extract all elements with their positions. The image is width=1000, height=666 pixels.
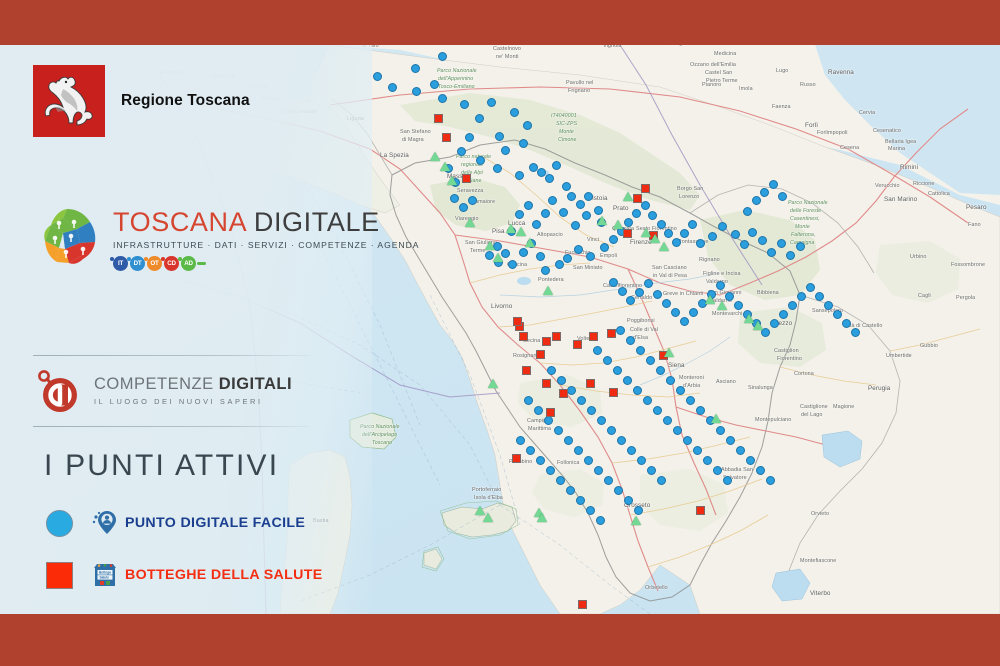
map-marker-punto-digitale-facile[interactable] [723,476,732,485]
map-marker-centro-digitalmentis[interactable] [537,513,547,522]
map-marker-centro-digitalmentis[interactable] [430,152,440,161]
map-label: La Spezia [380,152,409,159]
map-marker-punto-digitale-facile[interactable] [574,446,583,455]
map-marker-punto-digitale-facile[interactable] [571,221,580,230]
map-marker-punto-digitale-facile[interactable] [641,201,650,210]
map-label: Viterbo [810,590,831,597]
map-label: Pisa [492,228,505,235]
map-marker-centro-digitalmentis[interactable] [597,216,607,225]
map-label: dell'Appennino [438,76,473,82]
map-label: Orbetello [645,585,668,591]
map-marker-punto-digitale-facile[interactable] [696,406,705,415]
td-badge-ot[interactable]: OT [147,256,162,271]
map-marker-bottega-salute[interactable] [578,600,587,609]
map-marker-punto-digitale-facile[interactable] [758,236,767,245]
map-marker-punto-digitale-facile[interactable] [797,292,806,301]
map-marker-punto-digitale-facile[interactable] [584,456,593,465]
map-label: Seravezza [457,188,483,194]
map-label: Pergola [956,295,975,301]
map-marker-punto-digitale-facile[interactable] [676,386,685,395]
map-marker-centro-digitalmentis[interactable] [516,227,526,236]
map-label: Casentinesi, [790,216,820,222]
map-label: San Stefano [400,129,431,135]
map-marker-punto-digitale-facile[interactable] [673,426,682,435]
map-marker-punto-digitale-facile[interactable] [636,346,645,355]
toscana-digitale-title: TOSCANA DIGITALE [113,209,419,236]
map-marker-punto-digitale-facile[interactable] [541,209,550,218]
map-marker-centro-digitalmentis[interactable] [440,162,450,171]
map-marker-punto-digitale-facile[interactable] [526,446,535,455]
map-marker-punto-digitale-facile[interactable] [545,174,554,183]
map-label: Forlì [805,122,818,129]
map-marker-punto-digitale-facile[interactable] [824,301,833,310]
map-marker-punto-digitale-facile[interactable] [786,251,795,260]
map-marker-punto-digitale-facile[interactable] [725,292,734,301]
map-marker-punto-digitale-facile[interactable] [468,196,477,205]
map-label: Cortona [794,371,814,377]
map-marker-bottega-salute[interactable] [609,388,618,397]
map-marker-punto-digitale-facile[interactable] [510,108,519,117]
map-marker-punto-digitale-facile[interactable] [770,319,779,328]
map-marker-punto-digitale-facile[interactable] [501,146,510,155]
map-marker-bottega-salute[interactable] [536,350,545,359]
map-marker-punto-digitale-facile[interactable] [523,121,532,130]
map-marker-punto-digitale-facile[interactable] [779,310,788,319]
map-marker-punto-digitale-facile[interactable] [576,496,585,505]
map-label: Bibbiena [757,290,779,296]
map-marker-punto-digitale-facile[interactable] [519,248,528,257]
competenze-digitali-title: COMPETENZE DIGITALI [94,376,292,393]
map-label: Forlimpopoli [817,130,848,136]
map-pin-person-icon [85,509,125,537]
map-marker-bottega-salute[interactable] [586,379,595,388]
legend-row-0[interactable]: PUNTO DIGITALE FACILE [33,497,353,549]
map-marker-punto-digitale-facile[interactable] [788,301,797,310]
map-marker-punto-digitale-facile[interactable] [752,196,761,205]
map-marker-bottega-salute[interactable] [542,379,551,388]
map-marker-centro-digitalmentis[interactable] [711,414,721,423]
map-marker-punto-digitale-facile[interactable] [457,147,466,156]
map-marker-punto-digitale-facile[interactable] [760,188,769,197]
map-marker-bottega-salute[interactable] [512,454,521,463]
map-marker-punto-digitale-facile[interactable] [604,476,613,485]
map-marker-bottega-salute[interactable] [641,184,650,193]
map-marker-punto-digitale-facile[interactable] [718,222,727,231]
map-marker-punto-digitale-facile[interactable] [683,436,692,445]
map-marker-punto-digitale-facile[interactable] [748,228,757,237]
map-marker-punto-digitale-facile[interactable] [587,406,596,415]
map-marker-punto-digitale-facile[interactable] [577,396,586,405]
map-label: Borgo San [677,186,703,192]
map-marker-punto-digitale-facile[interactable] [806,283,815,292]
map-label: Vignola [603,45,622,49]
map-marker-punto-digitale-facile[interactable] [614,486,623,495]
map-marker-punto-digitale-facile[interactable] [632,209,641,218]
map-marker-punto-digitale-facile[interactable] [544,416,553,425]
map-marker-punto-digitale-facile[interactable] [635,288,644,297]
map-label: Abbadia San [721,467,753,473]
td-title-part1: TOSCANA [113,207,246,237]
map-label: Castiglione [800,404,828,410]
map-marker-punto-digitale-facile[interactable] [438,52,447,61]
map-marker-punto-digitale-facile[interactable] [567,192,576,201]
map-marker-punto-digitale-facile[interactable] [534,406,543,415]
map-label: Gubbio [920,343,938,349]
map-marker-punto-digitale-facile[interactable] [586,252,595,261]
map-marker-punto-digitale-facile[interactable] [713,466,722,475]
map-label: Marittima [528,426,551,432]
map-marker-centro-digitalmentis[interactable] [659,242,669,251]
map-marker-punto-digitale-facile[interactable] [548,196,557,205]
legend-marker-red-square [33,562,85,589]
map-label: Liguria [347,116,364,122]
map-marker-punto-digitale-facile[interactable] [766,476,775,485]
bottom-band [0,614,1000,666]
map-marker-centro-digitalmentis[interactable] [753,321,763,330]
map-marker-bottega-salute[interactable] [559,389,568,398]
map-marker-punto-digitale-facile[interactable] [680,229,689,238]
map-marker-punto-digitale-facile[interactable] [672,238,681,247]
map-marker-punto-digitale-facile[interactable] [693,446,702,455]
map-marker-punto-digitale-facile[interactable] [594,206,603,215]
map-marker-punto-digitale-facile[interactable] [564,436,573,445]
map-label: San Miniato [573,265,603,271]
map-marker-punto-digitale-facile[interactable] [734,301,743,310]
map-marker-punto-digitale-facile[interactable] [626,296,635,305]
map-label: Lorenzo [679,194,699,200]
map-label: Asciano [716,379,736,385]
map-marker-punto-digitale-facile[interactable] [476,156,485,165]
map-marker-bottega-salute[interactable] [623,229,632,238]
map-marker-punto-digitale-facile[interactable] [644,279,653,288]
map-marker-bottega-salute[interactable] [589,332,598,341]
map-marker-punto-digitale-facile[interactable] [515,171,524,180]
region-title: Regione Toscana [121,92,250,110]
legend-title: I PUNTI ATTIVI [44,449,279,483]
toscana-digitale-sphere-icon [33,205,101,273]
map-label: Chiavari [262,96,283,102]
map-label: Sestri Levante [281,109,317,115]
map-marker-bottega-salute[interactable] [462,174,471,183]
map-marker-punto-digitale-facile[interactable] [373,72,382,81]
map-marker-centro-digitalmentis[interactable] [717,301,727,310]
toscana-digitale-badges: ITDTOTCDAD [113,256,419,271]
map-label: Firenze [630,239,652,246]
map-marker-punto-digitale-facile[interactable] [609,235,618,244]
td-badge-it[interactable]: IT [113,256,128,271]
map-label: Follonica [557,460,579,466]
map-marker-punto-digitale-facile[interactable] [716,281,725,290]
map-label: Marina [888,146,905,152]
map-marker-punto-digitale-facile[interactable] [547,366,556,375]
map-marker-centro-digitalmentis[interactable] [447,176,457,185]
toscana-digitale-subtitle: INFRASTRUTTURE · DATI · SERVIZI · COMPET… [113,240,419,250]
map-marker-punto-digitale-facile[interactable] [465,133,474,142]
map-label: Parco Nazionale [437,68,477,74]
map-marker-punto-digitale-facile[interactable] [450,194,459,203]
map-marker-punto-digitale-facile[interactable] [778,192,787,201]
map-marker-punto-digitale-facile[interactable] [624,218,633,227]
toscana-digitale-logo-block: TOSCANA DIGITALE INFRASTRUTTURE · DATI ·… [33,205,419,273]
map-marker-punto-digitale-facile[interactable] [487,98,496,107]
map-marker-punto-digitale-facile[interactable] [769,180,778,189]
competenze-digitali-subtitle: IL LUOGO DEI NUOVI SAPERI [94,397,292,406]
map-label: Isola d'Elba [474,495,503,501]
map-marker-punto-digitale-facile[interactable] [574,245,583,254]
divider-bottom [33,426,310,427]
map-label: Montepulciano [755,417,791,423]
map-label: Urbino [910,254,926,260]
map-label: d'Arbia [683,383,700,389]
map-marker-punto-digitale-facile[interactable] [647,466,656,475]
map-marker-punto-digitale-facile[interactable] [597,416,606,425]
map-marker-punto-digitale-facile[interactable] [618,287,627,296]
map-marker-punto-digitale-facile[interactable] [746,456,755,465]
map-marker-punto-digitale-facile[interactable] [624,496,633,505]
map-marker-punto-digitale-facile[interactable] [626,336,635,345]
map-label: IT4040001 [551,113,577,119]
map-marker-punto-digitale-facile[interactable] [703,456,712,465]
map-marker-punto-digitale-facile[interactable] [529,163,538,172]
map-label: Lugo [776,68,788,74]
map-marker-punto-digitale-facile[interactable] [596,516,605,525]
map-label: Ravenna [828,69,854,76]
map-marker-punto-digitale-facile[interactable] [475,114,484,123]
map-marker-punto-digitale-facile[interactable] [743,207,752,216]
map-marker-punto-digitale-facile[interactable] [582,211,591,220]
map-label: Figline e Incisa [703,271,741,277]
map-marker-centro-digitalmentis[interactable] [483,513,493,522]
map-marker-punto-digitale-facile[interactable] [664,229,673,238]
map-marker-punto-digitale-facile[interactable] [842,319,851,328]
map-marker-punto-digitale-facile[interactable] [696,239,705,248]
map-marker-punto-digitale-facile[interactable] [680,317,689,326]
map-label: Cervia [859,110,875,116]
map-marker-punto-digitale-facile[interactable] [708,232,717,241]
map-marker-punto-digitale-facile[interactable] [411,64,420,73]
map-marker-punto-digitale-facile[interactable] [657,220,666,229]
map-label: d'Elsa [633,335,648,341]
map-marker-centro-digitalmentis[interactable] [543,286,553,295]
map-marker-centro-digitalmentis[interactable] [664,348,674,357]
map-label: Altopascio [537,232,563,238]
map-marker-centro-digitalmentis[interactable] [485,241,495,250]
map-label: Imola [739,86,753,92]
td-badge-dt[interactable]: DT [130,256,145,271]
map-label: Bologna [668,45,688,47]
map-marker-centro-digitalmentis[interactable] [493,253,503,262]
legend-label-0: PUNTO DIGITALE FACILE [125,515,305,531]
map-marker-punto-digitale-facile[interactable] [412,87,421,96]
map-marker-punto-digitale-facile[interactable] [554,426,563,435]
map-marker-bottega-salute[interactable] [442,133,451,142]
map-marker-centro-digitalmentis[interactable] [705,295,715,304]
map-marker-punto-digitale-facile[interactable] [777,239,786,248]
map-label: Colle di Val [630,327,658,333]
td-badge-cd[interactable]: CD [164,256,179,271]
map-marker-bottega-salute[interactable] [434,114,443,123]
map-marker-punto-digitale-facile[interactable] [663,416,672,425]
map-marker-punto-digitale-facile[interactable] [731,230,740,239]
map-label: Fano [968,222,981,228]
map-marker-punto-digitale-facile[interactable] [388,83,397,92]
map-marker-punto-digitale-facile[interactable] [519,139,528,148]
map-marker-punto-digitale-facile[interactable] [576,200,585,209]
map-label: Riccione [913,181,934,187]
map-marker-punto-digitale-facile[interactable] [767,248,776,257]
map-marker-bottega-salute[interactable] [633,194,642,203]
map-label: Fiorentino [777,356,802,362]
map-label: Parco Nazionale [788,200,828,206]
map-marker-punto-digitale-facile[interactable] [833,310,842,319]
map-marker-punto-digitale-facile[interactable] [656,366,665,375]
map-marker-punto-digitale-facile[interactable] [607,426,616,435]
map-marker-punto-digitale-facile[interactable] [438,94,447,103]
pegasus-emblem-icon [33,65,105,137]
map-marker-punto-digitale-facile[interactable] [686,396,695,405]
map-label: Cagli [918,293,931,299]
map-marker-punto-digitale-facile[interactable] [562,182,571,191]
map-marker-punto-digitale-facile[interactable] [627,446,636,455]
map-marker-punto-digitale-facile[interactable] [633,386,642,395]
map-marker-punto-digitale-facile[interactable] [586,506,595,515]
map-marker-punto-digitale-facile[interactable] [851,328,860,337]
bottega-salute-shop-icon: BottegaSalute [85,561,125,589]
map-marker-punto-digitale-facile[interactable] [493,164,502,173]
map-marker-punto-digitale-facile[interactable] [566,486,575,495]
map-label: di Magra [402,137,424,143]
map-label: Cattolica [928,191,950,197]
map-marker-punto-digitale-facile[interactable] [563,254,572,263]
map-marker-punto-digitale-facile[interactable] [609,278,618,287]
map-marker-punto-digitale-facile[interactable] [557,376,566,385]
map-marker-punto-digitale-facile[interactable] [556,476,565,485]
map-marker-centro-digitalmentis[interactable] [631,516,641,525]
td-badge-ad[interactable]: AD [181,256,196,271]
cd-title-part1: COMPETENZE [94,375,214,393]
map-marker-punto-digitale-facile[interactable] [648,211,657,220]
map-marker-bottega-salute[interactable] [513,317,522,326]
map-marker-centro-digitalmentis[interactable] [465,218,475,227]
map-marker-punto-digitale-facile[interactable] [653,290,662,299]
map-label: in Val di Pesa [653,273,687,279]
map-marker-punto-digitale-facile[interactable] [756,466,765,475]
map-label: di Taro [362,45,379,49]
map-label: Siena [668,362,685,369]
map-marker-punto-digitale-facile[interactable] [616,326,625,335]
map-marker-punto-digitale-facile[interactable] [536,456,545,465]
map-marker-punto-digitale-facile[interactable] [796,242,805,251]
map-marker-punto-digitale-facile[interactable] [662,299,671,308]
map-marker-punto-digitale-facile[interactable] [541,266,550,275]
map-marker-bottega-salute[interactable] [696,506,705,515]
map-marker-punto-digitale-facile[interactable] [653,406,662,415]
map-marker-punto-digitale-facile[interactable] [613,366,622,375]
map-marker-punto-digitale-facile[interactable] [537,168,546,177]
map-marker-punto-digitale-facile[interactable] [815,292,824,301]
map-marker-bottega-salute[interactable] [573,340,582,349]
map-marker-punto-digitale-facile[interactable] [736,446,745,455]
map-label: dell'Arcipelago [362,432,397,438]
map-marker-punto-digitale-facile[interactable] [594,466,603,475]
map-marker-bottega-salute[interactable] [542,337,551,346]
map-marker-punto-digitale-facile[interactable] [546,466,555,475]
map-marker-centro-digitalmentis[interactable] [623,192,633,201]
map-label: Bellaria Igea [885,139,916,145]
map-label: Poggibonsi [627,318,655,324]
map-marker-punto-digitale-facile[interactable] [552,161,561,170]
map-marker-punto-digitale-facile[interactable] [559,208,568,217]
map-marker-centro-digitalmentis[interactable] [525,238,535,247]
map-label: Cimone [558,137,576,143]
map-marker-punto-digitale-facile[interactable] [603,356,612,365]
map-marker-punto-digitale-facile[interactable] [524,396,533,405]
legend-marker-blue-circle [33,510,85,537]
map-marker-punto-digitale-facile[interactable] [524,201,533,210]
map-marker-punto-digitale-facile[interactable] [555,260,564,269]
map-marker-punto-digitale-facile[interactable] [567,386,576,395]
map-label: Castelnovo [493,46,521,52]
map-marker-punto-digitale-facile[interactable] [623,376,632,385]
map-marker-punto-digitale-facile[interactable] [430,80,439,89]
map-marker-punto-digitale-facile[interactable] [671,308,680,317]
map-marker-punto-digitale-facile[interactable] [600,243,609,252]
map-marker-punto-digitale-facile[interactable] [740,240,749,249]
map-marker-punto-digitale-facile[interactable] [646,356,655,365]
map-marker-punto-digitale-facile[interactable] [637,456,646,465]
map-marker-punto-digitale-facile[interactable] [460,100,469,109]
map-label: San Casciano [652,265,687,271]
map-marker-punto-digitale-facile[interactable] [716,426,725,435]
map-marker-bottega-salute[interactable] [607,329,616,338]
map-marker-punto-digitale-facile[interactable] [584,192,593,201]
map-label: Cesenatico [873,128,901,134]
map-marker-bottega-salute[interactable] [519,332,528,341]
map-marker-punto-digitale-facile[interactable] [516,436,525,445]
map-label: Rimini [900,164,918,171]
map-marker-punto-digitale-facile[interactable] [657,476,666,485]
map-marker-punto-digitale-facile[interactable] [508,260,517,269]
map-marker-punto-digitale-facile[interactable] [515,210,524,219]
legend-row-1[interactable]: BottegaSaluteBOTTEGHE DELLA SALUTE [33,549,353,601]
map-marker-punto-digitale-facile[interactable] [634,506,643,515]
map-marker-punto-digitale-facile[interactable] [459,203,468,212]
map-marker-punto-digitale-facile[interactable] [643,396,652,405]
map-marker-punto-digitale-facile[interactable] [689,308,698,317]
map-marker-punto-digitale-facile[interactable] [617,436,626,445]
map-label: Sinalunga [748,385,773,391]
map-marker-bottega-salute[interactable] [546,408,555,417]
map-marker-punto-digitale-facile[interactable] [666,376,675,385]
map-marker-bottega-salute[interactable] [522,366,531,375]
map-marker-centro-digitalmentis[interactable] [506,224,516,233]
map-label: Falterona, [791,232,815,238]
map-marker-centro-digitalmentis[interactable] [613,220,623,229]
map-marker-punto-digitale-facile[interactable] [495,132,504,141]
map-marker-punto-digitale-facile[interactable] [536,252,545,261]
map-marker-bottega-salute[interactable] [552,332,561,341]
map-marker-punto-digitale-facile[interactable] [726,436,735,445]
map-marker-punto-digitale-facile[interactable] [688,220,697,229]
map-marker-punto-digitale-facile[interactable] [593,346,602,355]
map-label: Fossombrone [951,262,985,268]
map-label: Frignano [568,88,590,94]
map-label: Russo [800,82,816,88]
map-label: Magione [833,404,854,410]
map-marker-centro-digitalmentis[interactable] [488,379,498,388]
map-marker-punto-digitale-facile[interactable] [532,220,541,229]
map-label: Monteroni [679,375,704,381]
